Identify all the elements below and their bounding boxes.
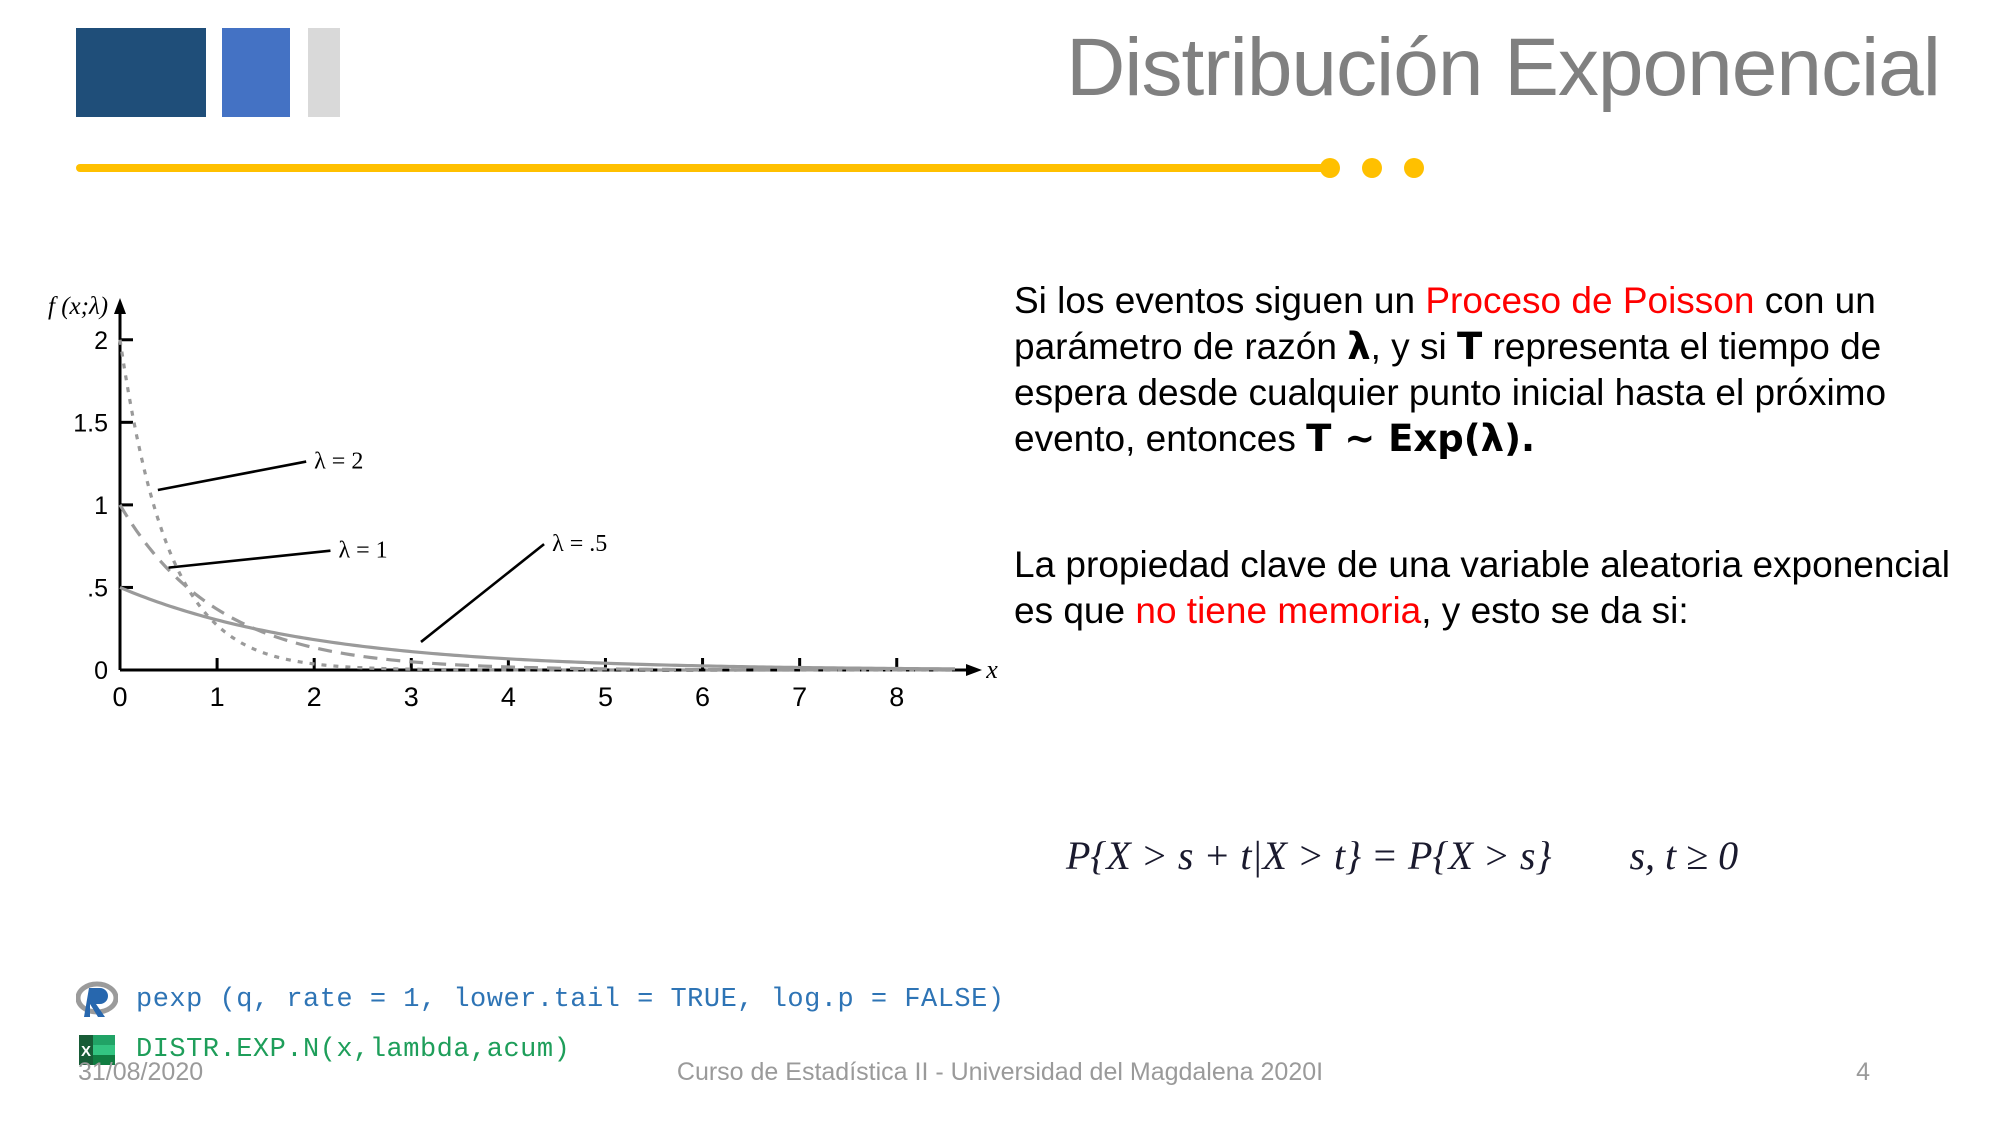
memoryless-formula: P{X > s + t|X > t} = P{X > s}s, t ≥ 0: [1066, 832, 1738, 879]
paragraph-poisson: Si los eventos siguen un Proceso de Pois…: [1014, 278, 1964, 462]
rule-dot-1: [1320, 158, 1340, 178]
p2-highlight-memoryless: no tiene memoria: [1135, 590, 1421, 631]
logo-block-blue: [222, 28, 290, 117]
paragraph-memoryless: La propiedad clave de una variable aleat…: [1014, 542, 1964, 634]
x-tick-label: 0: [112, 682, 127, 710]
y-tick-label: 1: [94, 492, 108, 520]
chart-svg: 0.511.52 012345678 λ = 2λ = 1λ = .5 f (x…: [40, 290, 1000, 710]
footer-course: Curso de Estadística II - Universidad de…: [0, 1058, 2000, 1087]
curve-annotation-label: λ = 1: [338, 538, 387, 564]
logo-block-gray: [308, 28, 340, 117]
p1-symbol-T: T: [1457, 325, 1482, 368]
y-tick-label: 1.5: [73, 409, 108, 437]
chart-x-axis-label: x: [985, 655, 998, 684]
chart-annotations: λ = 2λ = 1λ = .5: [158, 449, 607, 642]
footer-page-number: 4: [1856, 1058, 1870, 1087]
p1-highlight-poisson: Proceso de Poisson: [1425, 280, 1754, 321]
p1-seg1: Si los eventos siguen un: [1014, 280, 1425, 321]
x-tick-label: 4: [501, 682, 516, 710]
code-text-r: pexp (q, rate = 1, lower.tail = TRUE, lo…: [136, 985, 1005, 1015]
x-tick-label: 5: [598, 682, 613, 710]
x-tick-label: 6: [695, 682, 710, 710]
curve-annotation-label: λ = 2: [314, 449, 363, 475]
curve--5: [120, 587, 955, 668]
body-text-column: Si los eventos siguen un Proceso de Pois…: [1014, 278, 1964, 634]
title-underline-rule: [76, 164, 1328, 172]
chart-axes: [114, 298, 982, 676]
x-tick-label: 8: [889, 682, 904, 710]
logo-block-dark: [76, 28, 206, 117]
formula-lhs: P{X > s + t|X > t} = P{X > s}: [1066, 833, 1551, 878]
x-tick-label: 7: [792, 682, 807, 710]
rule-dot-2: [1362, 158, 1382, 178]
x-tick-label: 1: [210, 682, 225, 710]
formula-condition: s, t ≥ 0: [1629, 833, 1738, 878]
y-tick-label: 2: [94, 327, 108, 355]
p2-seg2: , y esto se da si:: [1421, 590, 1688, 631]
slide-header: Distribución Exponencial: [0, 0, 2000, 170]
curve--2: [120, 340, 955, 670]
exponential-pdf-chart: 0.511.52 012345678 λ = 2λ = 1λ = .5 f (x…: [40, 290, 1000, 710]
x-tick-label: 3: [404, 682, 419, 710]
slide-footer: 31/08/2020 Curso de Estadística II - Uni…: [0, 1058, 2000, 1098]
rule-dot-3: [1404, 158, 1424, 178]
p1-symbol-exp: T ~ Exp(λ).: [1306, 417, 1535, 460]
curve-annotation-label: λ = .5: [552, 531, 607, 557]
code-row-r: pexp (q, rate = 1, lower.tail = TRUE, lo…: [76, 975, 1076, 1025]
y-tick-label: 0: [94, 657, 108, 685]
r-logo-icon: [76, 979, 118, 1021]
y-tick-label: .5: [87, 574, 108, 602]
chart-y-ticks: 0.511.52: [73, 327, 133, 685]
x-tick-label: 2: [307, 682, 322, 710]
p1-symbol-lambda: λ: [1347, 325, 1370, 368]
page-title: Distribución Exponencial: [1066, 18, 1940, 118]
chart-curves: [120, 340, 955, 670]
chart-y-axis-label: f (x;λ): [48, 293, 108, 320]
p1-seg3: , y si: [1371, 326, 1457, 367]
